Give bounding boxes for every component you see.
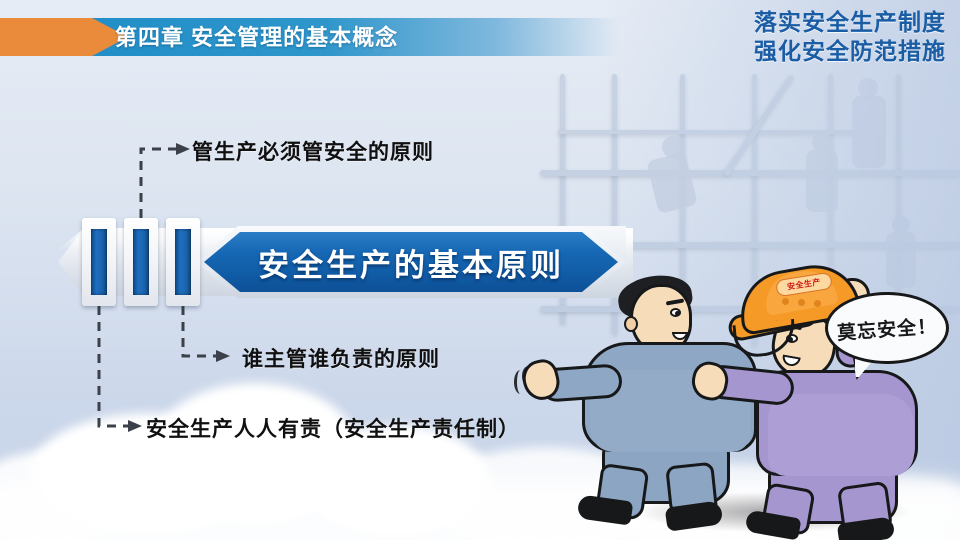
principle-item-1: 管生产必须管安全的原则 (192, 139, 434, 167)
speech-bubble-text: 莫忘安全！ (823, 288, 952, 368)
slogan-line-2: 强化安全防范措施 (754, 37, 946, 66)
accent-bar-2 (124, 218, 158, 306)
safety-helmet-vent-1 (782, 298, 789, 305)
slide-canvas: 第四章 安全管理的基本概念 落实安全生产制度 强化安全防范措施 安全生产的基本原… (0, 0, 960, 540)
accent-bar-1 (82, 218, 116, 306)
safety-helmet-vent-2 (798, 299, 805, 306)
principle-item-3: 安全生产人人有责（安全生产责任制） (146, 416, 520, 444)
chapter-title: 第四章 安全管理的基本概念 (115, 19, 398, 57)
slogan-block: 落实安全生产制度 强化安全防范措施 (754, 8, 946, 66)
accent-bar-3 (166, 218, 200, 306)
principle-item-2: 谁主管谁负责的原则 (248, 346, 463, 374)
worker-b-torso-shade (768, 394, 914, 476)
slogan-line-1: 落实安全生产制度 (754, 8, 946, 37)
safety-helmet-vent-3 (814, 300, 821, 307)
worker-a-pupil (675, 311, 680, 316)
worker-a-ear (624, 316, 638, 332)
